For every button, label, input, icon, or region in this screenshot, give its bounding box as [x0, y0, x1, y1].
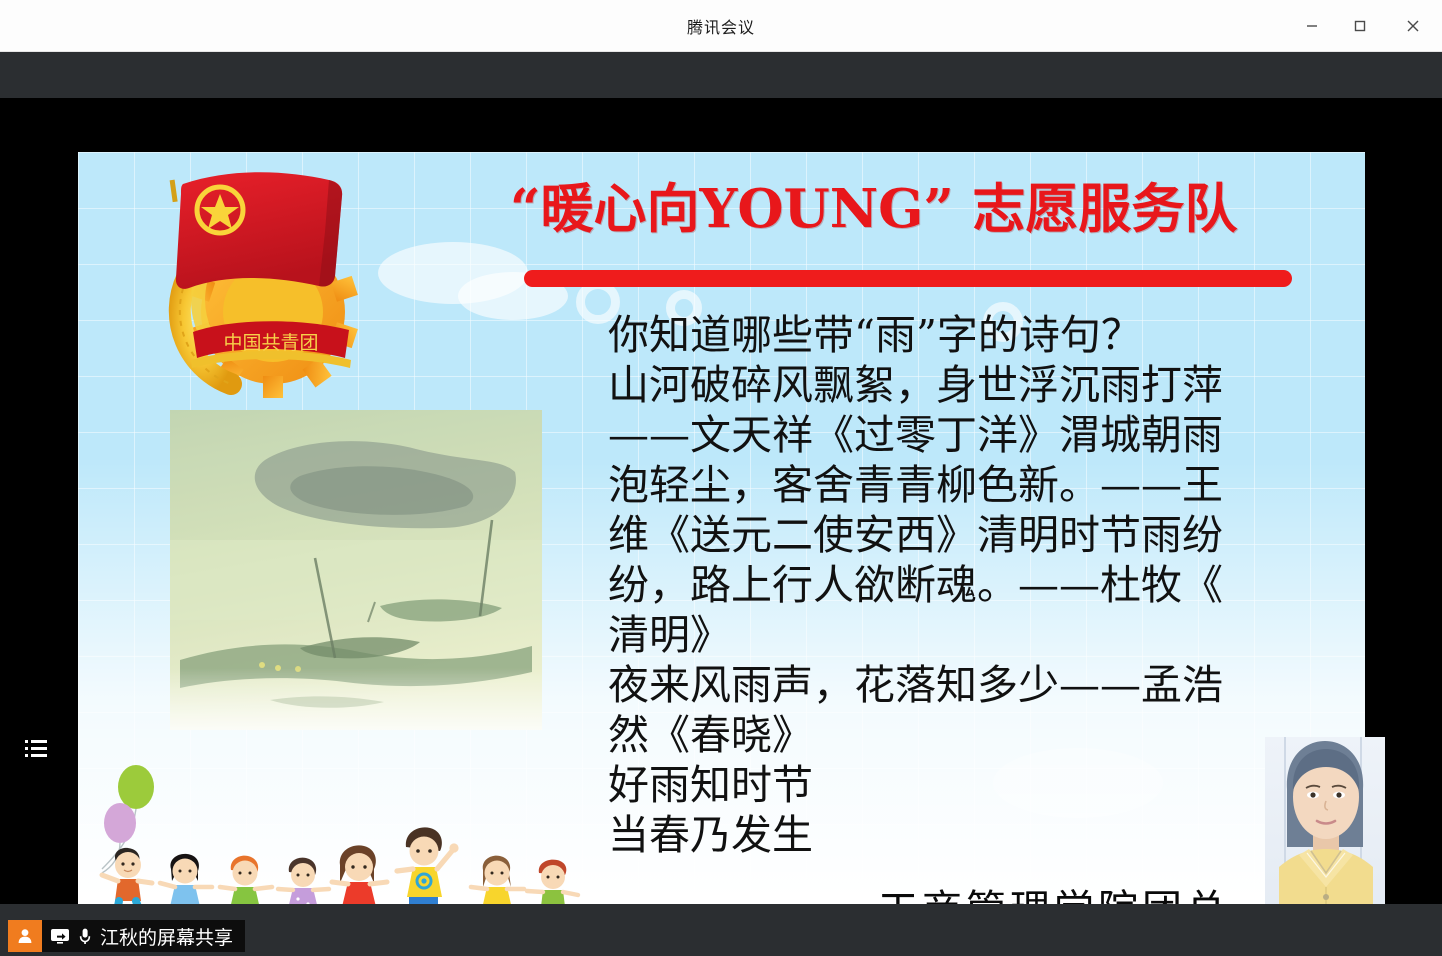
close-icon: [1404, 17, 1422, 35]
poem-line: 然《春晓》: [608, 710, 1268, 760]
poem-line: 纷，路上行人欲断魂。——杜牧《: [608, 560, 1268, 610]
presentation-slide: 中国共青团 “暖心向YOUNG” 志愿服务队: [78, 152, 1365, 956]
microphone-icon: [78, 927, 92, 945]
tencent-meeting-window: 腾讯会议: [0, 0, 1442, 956]
screen-share-indicator[interactable]: 江秋的屏幕共享: [8, 920, 245, 952]
maximize-button[interactable]: [1336, 0, 1384, 52]
app-title: 腾讯会议: [687, 14, 755, 38]
minimize-button[interactable]: [1288, 0, 1336, 52]
close-button[interactable]: [1384, 0, 1442, 52]
youth-league-emblem-icon: 中国共青团: [153, 162, 403, 412]
poem-line: 泡轻尘，客舍青青柳色新。——王: [608, 460, 1268, 510]
poem-line: 你知道哪些带“雨”字的诗句？: [608, 310, 1268, 360]
poem-line: 好雨知时节: [608, 760, 1268, 810]
maximize-icon: [1352, 18, 1368, 34]
avatar: [8, 920, 42, 952]
window-titlebar: 腾讯会议: [0, 0, 1442, 52]
poem-line: 当春乃发生: [608, 810, 1268, 860]
viewer-top-band: [0, 52, 1442, 98]
poem-line: 夜来风雨声，花落知多少——孟浩: [608, 660, 1268, 710]
screen-share-icon: [50, 927, 70, 945]
poem-text-block: 你知道哪些带“雨”字的诗句？ 山河破碎风飘絮，身世浮沉雨打萍 ——文天祥《过零丁…: [608, 310, 1268, 860]
slide-title: “暖心向YOUNG” 志愿服务队: [510, 180, 1355, 238]
person-icon: [16, 927, 34, 945]
list-icon[interactable]: [18, 732, 54, 768]
red-flag: [176, 172, 342, 289]
ink-wash-painting: [170, 410, 542, 730]
poem-line: 维《送元二使安西》清明时节雨纷: [608, 510, 1268, 560]
poem-line: ——文天祥《过零丁洋》渭城朝雨: [608, 410, 1268, 460]
window-controls: [1288, 0, 1442, 52]
shared-screen-area: 中国共青团 “暖心向YOUNG” 志愿服务队: [0, 52, 1442, 904]
title-underline-bar: [524, 270, 1292, 287]
minimize-icon: [1304, 18, 1320, 34]
share-label: 江秋的屏幕共享: [100, 923, 233, 950]
poem-line: 山河破碎风飘絮，身世浮沉雨打萍: [608, 360, 1268, 410]
poem-line: 清明》: [608, 610, 1268, 660]
emblem-banner-text: 中国共青团: [223, 332, 318, 354]
